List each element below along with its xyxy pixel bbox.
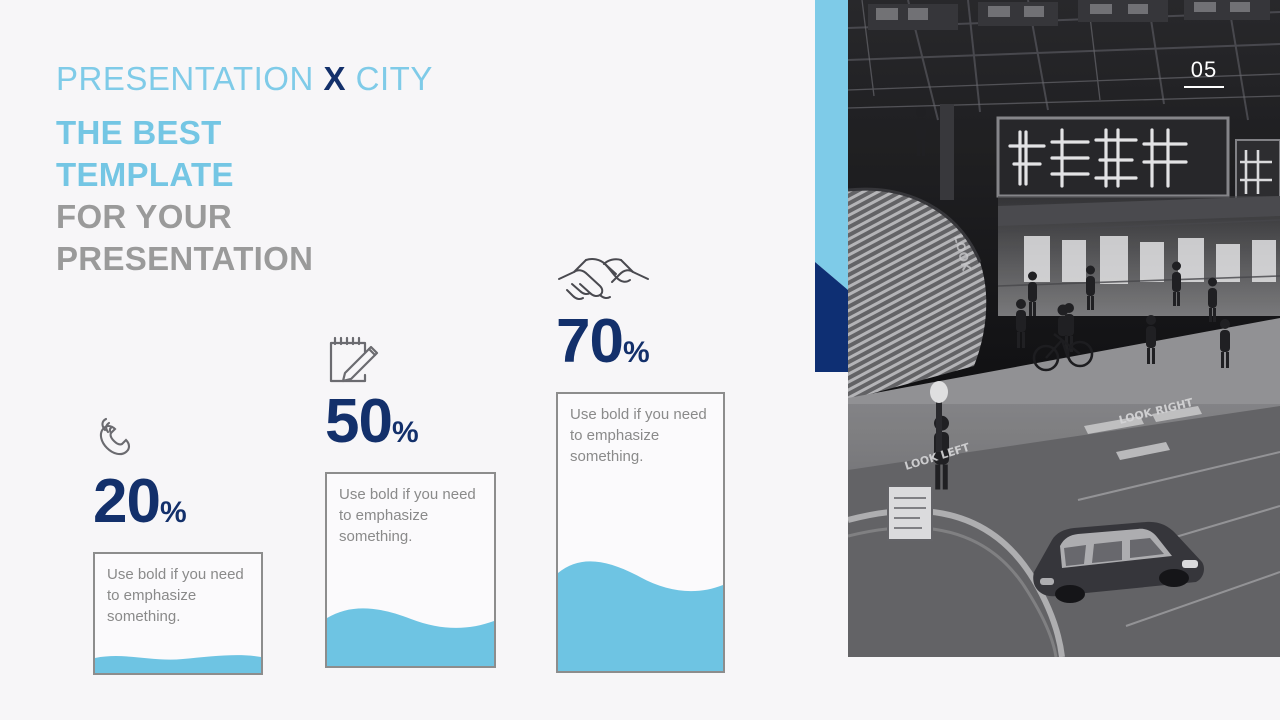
notepad-pencil-icon bbox=[325, 335, 496, 391]
stat-percent-1: % bbox=[160, 496, 187, 529]
hero-photo: LOOK LEFT LOOK RIGHT LOOK 05 bbox=[848, 0, 1280, 657]
page-number-underline bbox=[1184, 86, 1224, 88]
wave-fill-1 bbox=[95, 651, 261, 673]
stat-percent-2: % bbox=[392, 416, 419, 449]
stat-number-3: 70 bbox=[556, 307, 623, 376]
stat-body-text-1: Use bold if you need to emphasize someth… bbox=[95, 554, 261, 627]
eyebrow-title: PRESENTATION X CITY bbox=[56, 60, 433, 98]
eyebrow-after: CITY bbox=[346, 60, 433, 97]
headline-line-3: FOR YOUR bbox=[56, 196, 313, 238]
stat-body-card-2: Use bold if you need to emphasize someth… bbox=[325, 472, 496, 668]
stat-body-card-1: Use bold if you need to emphasize someth… bbox=[93, 552, 263, 675]
headline-line-4: PRESENTATION bbox=[56, 238, 313, 280]
stat-card-1: 20% Use bold if you need to emphasize so… bbox=[93, 415, 263, 675]
page-title: THE BEST TEMPLATE FOR YOUR PRESENTATION bbox=[56, 112, 313, 280]
stat-card-3: 70% Use bold if you need to emphasize so… bbox=[556, 255, 725, 673]
wave-fill-3 bbox=[558, 551, 723, 671]
stat-body-text-2: Use bold if you need to emphasize someth… bbox=[327, 474, 494, 547]
page-number: 05 bbox=[1184, 58, 1224, 88]
wave-fill-2 bbox=[327, 600, 494, 666]
stat-card-2: 50% Use bold if you need to emphasize so… bbox=[325, 335, 496, 668]
stat-number-2: 50 bbox=[325, 387, 392, 456]
stat-percent-3: % bbox=[623, 336, 650, 369]
handshake-icon bbox=[556, 255, 725, 311]
stat-number-1: 20 bbox=[93, 467, 160, 536]
stat-value-3: 70% bbox=[556, 311, 725, 384]
stat-body-text-3: Use bold if you need to emphasize someth… bbox=[558, 394, 723, 467]
headline-line-1: THE BEST bbox=[56, 112, 313, 154]
eyebrow-before: PRESENTATION bbox=[56, 60, 323, 97]
eyebrow-x: X bbox=[323, 60, 346, 97]
headline-line-2: TEMPLATE bbox=[56, 154, 313, 196]
stat-value-1: 20% bbox=[93, 471, 263, 544]
stat-body-card-3: Use bold if you need to emphasize someth… bbox=[556, 392, 725, 673]
page-number-value: 05 bbox=[1184, 58, 1224, 82]
phone-call-icon bbox=[93, 415, 263, 471]
stat-value-2: 50% bbox=[325, 391, 496, 464]
